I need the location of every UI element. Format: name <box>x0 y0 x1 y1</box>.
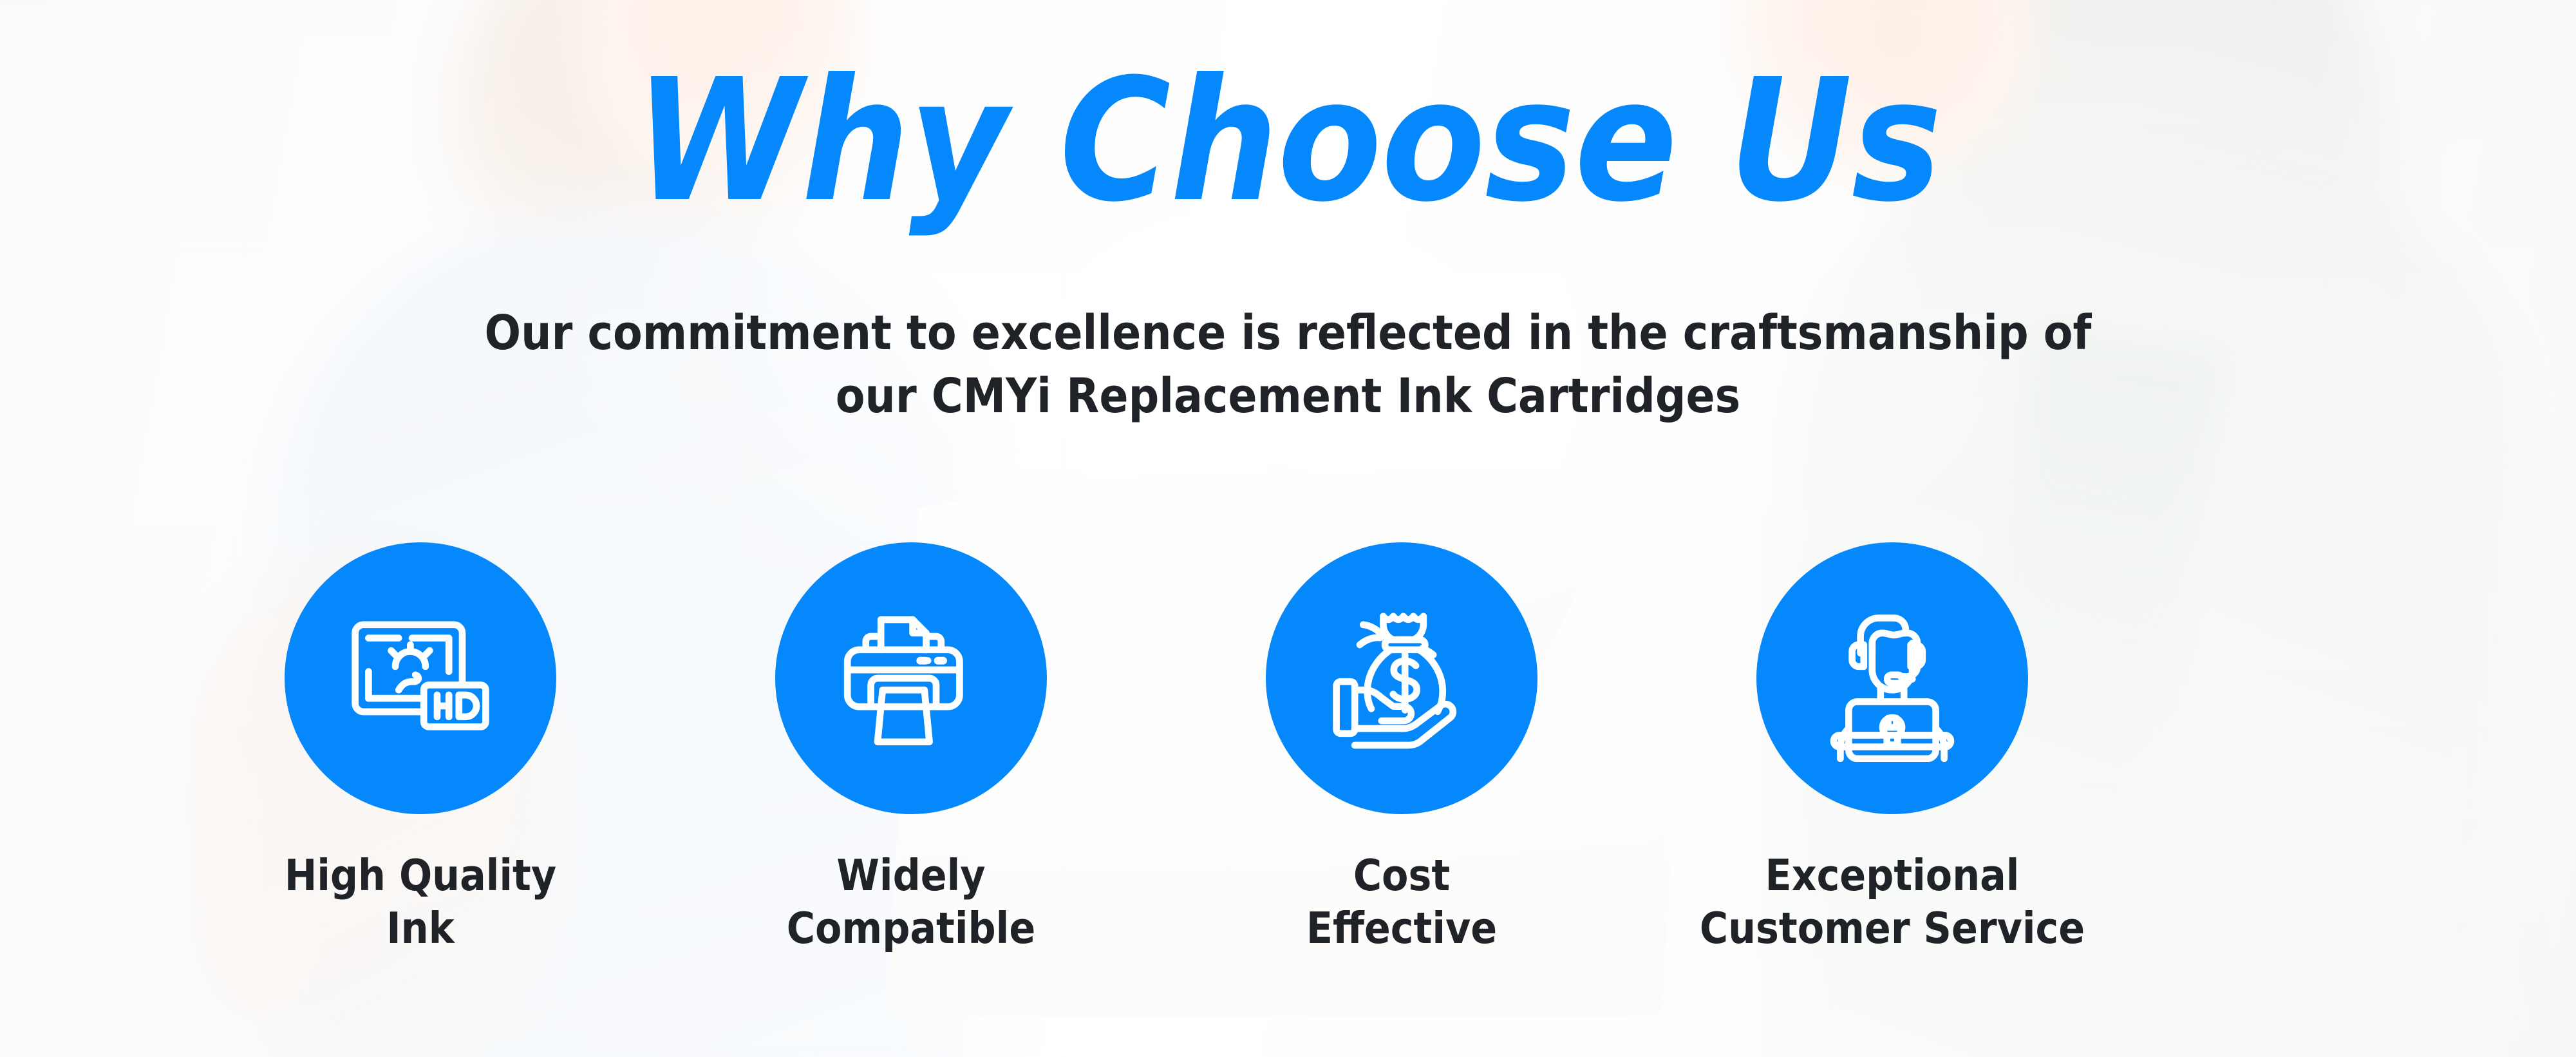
banner-content: Why Choose Us Our commitment to excellen… <box>0 0 2576 1057</box>
why-choose-us-banner: Why Choose Us Our commitment to excellen… <box>0 0 2576 1057</box>
subtitle-line-2: our CMYi Replacement Ink Cartridges <box>355 365 2222 428</box>
feature-icon-circle <box>285 542 556 814</box>
hand-holding-money-bag-icon <box>1318 595 1485 762</box>
printer-icon <box>827 595 995 762</box>
subtitle-line-1: Our commitment to excellence is reflecte… <box>355 301 2222 365</box>
feature-icon-circle <box>775 542 1047 814</box>
feature-label: Exceptional Customer Service <box>1700 849 2085 955</box>
feature-list: High Quality Ink <box>0 542 2576 955</box>
feature-icon-circle <box>1266 542 1537 814</box>
page-title: Why Choose Us <box>0 57 2576 225</box>
feature-item-customer-service: Exceptional Customer Service <box>1647 542 2138 955</box>
support-agent-headset-laptop-icon <box>1809 595 1976 762</box>
feature-item-high-quality-ink: High Quality Ink <box>175 542 666 955</box>
feature-icon-circle <box>1756 542 2028 814</box>
feature-item-widely-compatible: Widely Compatible <box>666 542 1156 955</box>
feature-label: Cost Effective <box>1306 849 1497 955</box>
feature-item-cost-effective: Cost Effective <box>1156 542 1647 955</box>
hd-image-quality-icon <box>337 595 504 762</box>
page-subtitle: Our commitment to excellence is reflecte… <box>355 301 2222 428</box>
feature-label: Widely Compatible <box>787 849 1035 955</box>
feature-label: High Quality Ink <box>285 849 556 955</box>
